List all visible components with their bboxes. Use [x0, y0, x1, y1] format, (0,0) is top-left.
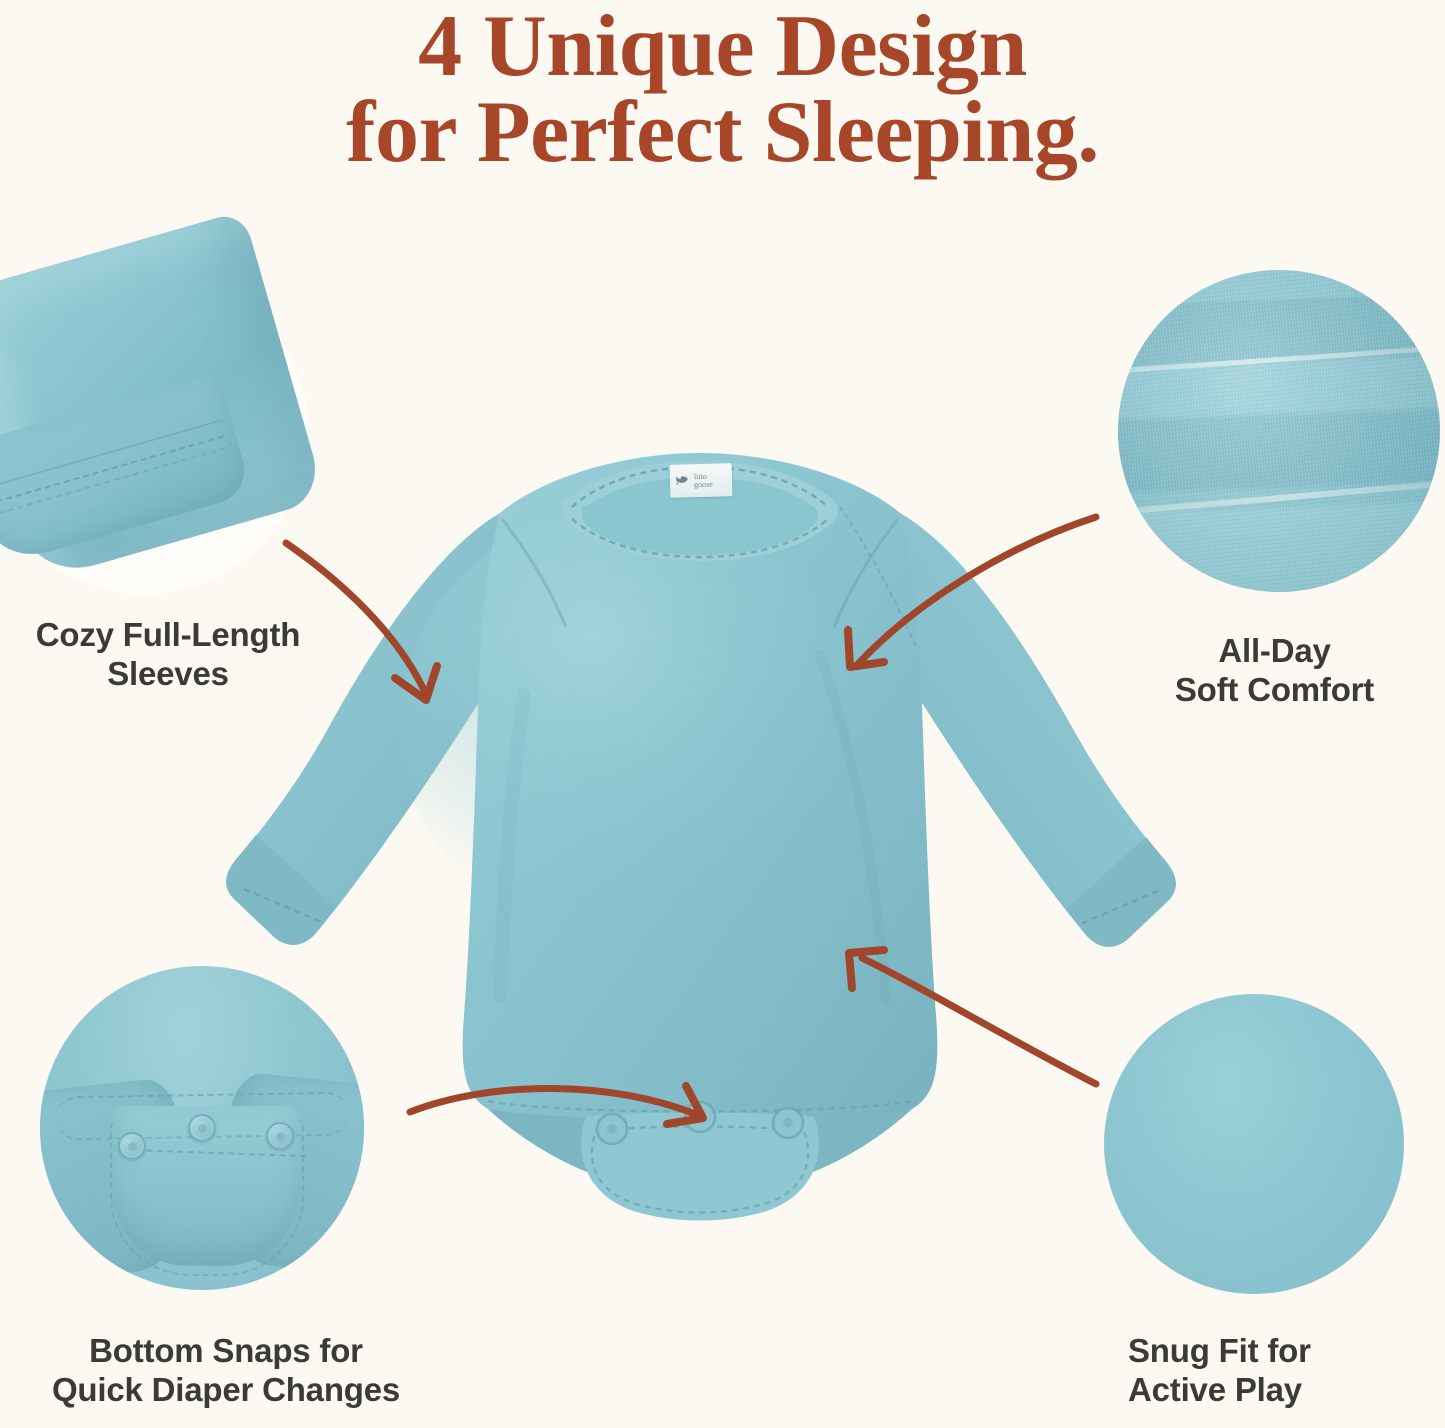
garment-snap-2: [685, 1102, 715, 1132]
brand-tag: littogoose: [670, 463, 733, 498]
brand-tag-text: littogoose: [694, 472, 713, 488]
garment-snap-3: [773, 1108, 803, 1138]
infographic-canvas: 4 Unique Design for Perfect Sleeping.: [0, 0, 1445, 1428]
caption-cozy-full-length-sleeves: Cozy Full-Length Sleeves: [0, 616, 336, 694]
page-headline: 4 Unique Design for Perfect Sleeping.: [0, 4, 1445, 176]
snap-button-1[interactable]: [118, 1132, 146, 1160]
goose-icon: [674, 470, 692, 491]
caption-snug-fit-active-play: Snug Fit for Active Play: [1128, 1332, 1445, 1410]
garment-snap-1: [597, 1114, 627, 1144]
chest-highlight: [400, 505, 860, 945]
caption-all-day-soft-comfort: All-Day Soft Comfort: [1104, 632, 1445, 710]
caption-bottom-snaps: Bottom Snaps for Quick Diaper Changes: [0, 1332, 452, 1410]
baby-bodysuit-illustration: [200, 395, 1220, 1235]
